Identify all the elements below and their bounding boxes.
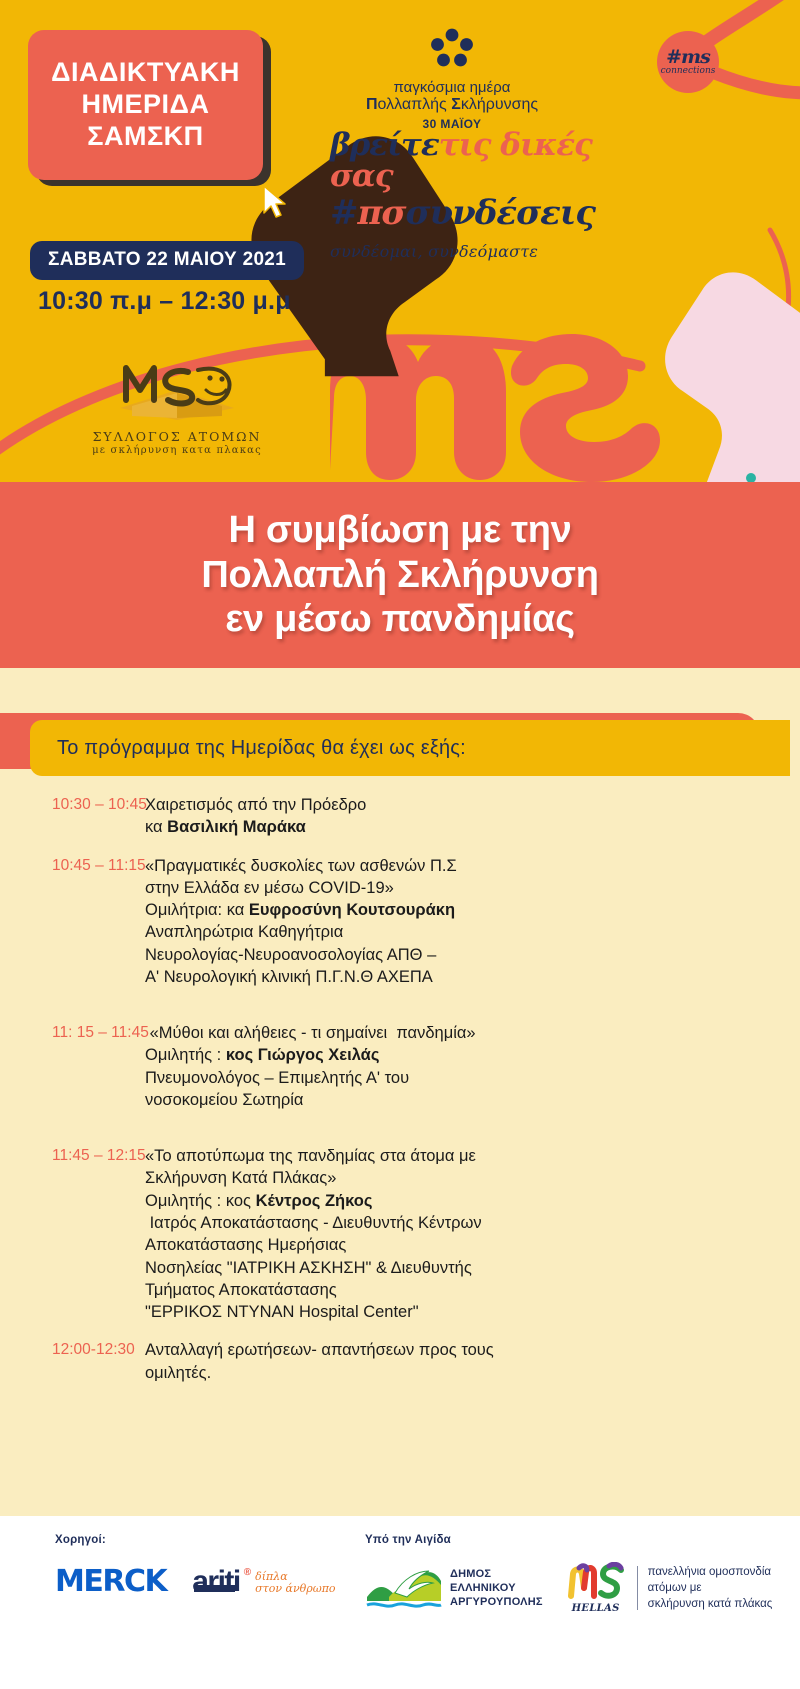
aegis-logo-row: ΔΗΜΟΣ ΕΛΛΗΝΙΚΟΥ ΑΡΓΥΡΟΥΠΟΛΗΣ HELLAS [365, 1562, 772, 1614]
dimos-emblem-icon [365, 1563, 443, 1613]
schedule-row: 11:45 – 12:15«Το αποτύπωμα της πανδημίας… [0, 1145, 800, 1323]
schedule-line-text: Α' Νευρολογική κλινική Π.Γ.Ν.Θ ΑΧΕΠΑ [145, 968, 433, 986]
schedule-row-line: στην Ελλάδα εν μέσω COVID-19» [145, 877, 457, 899]
slogan-accent-2: πσ [358, 193, 406, 233]
schedule-row-line: Αναπληρώτρια Καθηγήτρια [145, 921, 457, 943]
schedule-line-text: Αποκατάστασης Ημερήσιας [145, 1236, 346, 1254]
schedule-row-time: 10:45 – 11:15 [0, 855, 145, 989]
schedule-row-body: «Το αποτύπωμα της πανδημίας στα άτομα με… [145, 1145, 482, 1323]
ms-hellas-letters-icon [565, 1562, 627, 1600]
schedule-gap [0, 1115, 800, 1145]
world-day-bold-pi: Π [366, 96, 378, 113]
schedule-row-line: Ομιλητής : κος Γιώργος Χειλάς [145, 1044, 476, 1066]
program-heading-text: Το πρόγραμμα της Ημερίδας θα έχει ως εξή… [57, 737, 466, 760]
schedule-gap [0, 1388, 800, 1400]
world-ms-day-logo: παγκόσμια ημέρα Πολλαπλής Σκλήρυνσης 30 … [352, 28, 552, 131]
schedule-line-text: Πνευμονολόγος – Επιμελητής Α' του [145, 1069, 409, 1087]
hero-section: ΔΙΑΔΙΚΤΥΑΚΗ ΗΜΕΡΙΔΑ ΣΑΜΣΚΠ ΣΑΒΒΑΤΟ 22 ΜΑ… [0, 0, 800, 482]
slogan-block: βρείτετις δικές σας #πσσυνδέσεις συνδέομ… [330, 130, 620, 261]
association-mark-icon [102, 360, 252, 422]
schedule-line-text: Ανταλλαγή ερωτήσεων- απαντήσεων προς του… [145, 1341, 494, 1359]
title-card-text: ΔΙΑΔΙΚΤΥΑΚΗ ΗΜΕΡΙΔΑ ΣΑΜΣΚΠ [51, 57, 240, 153]
mouse-cursor-icon [262, 185, 288, 219]
schedule-line-text: Ομιλητής : κος [145, 1192, 256, 1210]
ms-hellas-wordmark: HELLAS [565, 1603, 627, 1614]
slogan-hash: # [330, 193, 358, 233]
world-day-rest2: κλήρυνσης [461, 96, 538, 113]
ariti-registered-mark: ® [244, 1567, 251, 1578]
schedule-line-text: Τμήματος Αποκατάστασης [145, 1281, 337, 1299]
aegis-block: Υπό την Αιγίδα ΔΗΜΟΣ ΕΛΛΗΝΙΚΟΥ ΑΡΓΥΡΟΥΠΟ… [365, 1534, 772, 1614]
ms-hellas-mark: HELLAS [565, 1562, 627, 1614]
world-day-line2: Πολλαπλής Σκλήρυνσης [352, 96, 552, 115]
schedule-line-emphasis: Ευφροσύνη Κουτσουράκη [249, 901, 455, 919]
world-day-rest1: ολλαπλής [378, 96, 452, 113]
world-day-bold-sigma: Σ [451, 96, 461, 113]
schedule-row-line: Πνευμονολόγος – Επιμελητής Α' του [145, 1067, 476, 1089]
schedule-line-emphasis: Βασιλική Μαράκα [167, 818, 306, 836]
schedule-gap [0, 992, 800, 1022]
schedule-line-text: Σκλήρυνση Κατά Πλάκας» [145, 1169, 336, 1187]
schedule-row: 10:30 – 10:45Χαιρετισμός από την Πρόεδρο… [0, 794, 800, 839]
schedule-row-line: Αποκατάστασης Ημερήσιας [145, 1234, 482, 1256]
schedule-row-time: 11:45 – 12:15 [0, 1145, 145, 1323]
schedule-gap [0, 843, 800, 855]
schedule-row-line: νοσοκομείου Σωτηρία [145, 1089, 476, 1111]
program-section: Το πρόγραμμα της Ημερίδας θα έχει ως εξή… [0, 668, 800, 1516]
ms-hellas-logo: HELLAS πανελλήνια ομοσπονδία ατόμων με σ… [565, 1562, 773, 1614]
schedule-line-text: ομιλητές. [145, 1364, 211, 1382]
merck-logo: MERCK [55, 1564, 166, 1599]
schedule-line-text: Ιατρός Αποκατάστασης - Διευθυντής Κέντρω… [145, 1214, 482, 1232]
schedule-row-line: «Το αποτύπωμα της πανδημίας στα άτομα με [145, 1145, 482, 1167]
sponsors-block: Χορηγοί: MERCK ariti ® δίπλα στον άνθρωπ… [55, 1534, 336, 1599]
title-band: Η συμβίωση με την Πολλαπλή Σκλήρυνση εν … [0, 482, 800, 668]
schedule-line-emphasis: Κέντρος Ζήκος [256, 1192, 373, 1210]
aegis-label: Υπό την Αιγίδα [365, 1534, 772, 1546]
schedule-line-text: «Το αποτύπωμα της πανδημίας στα άτομα με [145, 1147, 476, 1165]
ariti-tagline: δίπλα στον άνθρωπο [255, 1571, 335, 1596]
world-day-line1: παγκόσμια ημέρα [352, 79, 552, 96]
schedule-row-line: Ανταλλαγή ερωτήσεων- απαντήσεων προς του… [145, 1339, 494, 1361]
schedule-line-text: Νευρολογίας-Νευροανοσολογίας ΑΠΘ – [145, 946, 436, 964]
ms-connections-badge: #ms connections [657, 31, 719, 93]
schedule-row-line: «Πραγματικές δυσκολίες των ασθενών Π.Σ [145, 855, 457, 877]
sponsors-label: Χορηγοί: [55, 1534, 336, 1546]
schedule-row: 11: 15 – 11:45 «Μύθοι και αλήθειες - τι … [0, 1022, 800, 1111]
schedule-row-line: Ομιλητής : κος Κέντρος Ζήκος [145, 1190, 482, 1212]
slogan-line-3: συνδέομαι, συνδεόμαστε [330, 242, 620, 261]
association-line1: ΣΥΛΛΟΓΟΣ ΑΤΟΜΩΝ [82, 429, 272, 444]
schedule-row-body: Ανταλλαγή ερωτήσεων- απαντήσεων προς του… [145, 1339, 494, 1384]
schedule-line-text: Αναπληρώτρια Καθηγήτρια [145, 923, 343, 941]
schedule-row-line: Νοσηλείας "ΙΑΤΡΙΚΗ ΑΣΚΗΣΗ" & Διευθυντής [145, 1257, 482, 1279]
sponsor-logo-row: MERCK ariti ® δίπλα στον άνθρωπο [55, 1564, 336, 1599]
footer-section: Χορηγοί: MERCK ariti ® δίπλα στον άνθρωπ… [0, 1516, 800, 1689]
dimos-text: ΔΗΜΟΣ ΕΛΛΗΝΙΚΟΥ ΑΡΓΥΡΟΥΠΟΛΗΣ [450, 1567, 543, 1609]
schedule-line-text: στην Ελλάδα εν μέσω COVID-19» [145, 879, 394, 897]
ariti-underbar [194, 1585, 235, 1592]
badge-top-text: #ms [666, 48, 710, 66]
schedule-row-line: κα Βασιλική Μαράκα [145, 816, 366, 838]
schedule-row-line: Χαιρετισμός από την Πρόεδρο [145, 794, 366, 816]
schedule-row-time: 11: 15 – 11:45 [0, 1022, 145, 1111]
schedule-row-line: Α' Νευρολογική κλινική Π.Γ.Ν.Θ ΑΧΕΠΑ [145, 966, 457, 988]
schedule-row-line: Νευρολογίας-Νευροανοσολογίας ΑΠΘ – [145, 944, 457, 966]
schedule-row-line: "ΕΡΡΙΚΟΣ ΝΤΥΝΑΝ Hospital Center" [145, 1301, 482, 1323]
ms-hellas-description: πανελλήνια ομοσπονδία ατόμων με σκλήρυνσ… [648, 1564, 773, 1613]
association-line2: με σκλήρυνση κατα πλακας [82, 445, 272, 456]
date-pill-text: ΣΑΒΒΑΤΟ 22 ΜΑΙΟΥ 2021 [48, 249, 286, 270]
slogan-dark-2: συνδέσεις [405, 193, 595, 233]
schedule-line-text: νοσοκομείου Σωτηρία [145, 1091, 303, 1109]
dimos-logo: ΔΗΜΟΣ ΕΛΛΗΝΙΚΟΥ ΑΡΓΥΡΟΥΠΟΛΗΣ [365, 1563, 543, 1613]
schedule-row-time: 12:00-12:30 [0, 1339, 145, 1384]
ariti-logo: ariti ® δίπλα στον άνθρωπο [192, 1565, 335, 1599]
ariti-wordmark: ariti [192, 1565, 240, 1599]
schedule-row-line: «Μύθοι και αλήθειες - τι σημαίνει πανδημ… [145, 1022, 476, 1044]
schedule-list: 10:30 – 10:45Χαιρετισμός από την Πρόεδρο… [0, 794, 800, 1400]
schedule-line-text: Ομιλητής : [145, 1046, 226, 1064]
ariti-text: ariti [192, 1565, 240, 1598]
schedule-row-line: Ιατρός Αποκατάστασης - Διευθυντής Κέντρω… [145, 1212, 482, 1234]
schedule-line-emphasis: κος Γιώργος Χειλάς [226, 1046, 380, 1064]
slogan-line-1: βρείτετις δικές σας [330, 130, 620, 192]
association-logo: ΣΥΛΛΟΓΟΣ ΑΤΟΜΩΝ με σκλήρυνση κατα πλακας [82, 360, 272, 456]
schedule-line-text: "ΕΡΡΙΚΟΣ ΝΤΥΝΑΝ Hospital Center" [145, 1303, 419, 1321]
schedule-row-body: «Μύθοι και αλήθειες - τι σημαίνει πανδημ… [145, 1022, 476, 1111]
schedule-line-text: Ομιλήτρια: κα [145, 901, 249, 919]
schedule-line-text: κα [145, 818, 167, 836]
schedule-row: 10:45 – 11:15«Πραγματικές δυσκολίες των … [0, 855, 800, 989]
schedule-gap [0, 1327, 800, 1339]
schedule-line-text: «Πραγματικές δυσκολίες των ασθενών Π.Σ [145, 857, 457, 875]
slogan-line-2: #πσσυνδέσεις [330, 196, 620, 230]
poster-main-title: Η συμβίωση με την Πολλαπλή Σκλήρυνση εν … [201, 508, 598, 641]
schedule-row-body: «Πραγματικές δυσκολίες των ασθενών Π.Σστ… [145, 855, 457, 989]
badge-bottom-text: connections [661, 67, 716, 76]
time-text: 10:30 π.μ – 12:30 μ.μ [38, 287, 291, 316]
title-card: ΔΙΑΔΙΚΤΥΑΚΗ ΗΜΕΡΙΔΑ ΣΑΜΣΚΠ [28, 30, 263, 180]
schedule-row-body: Χαιρετισμός από την Πρόεδροκα Βασιλική Μ… [145, 794, 366, 839]
program-heading-bar: Το πρόγραμμα της Ημερίδας θα έχει ως εξή… [30, 720, 790, 776]
schedule-row-line: Σκλήρυνση Κατά Πλάκας» [145, 1167, 482, 1189]
date-pill: ΣΑΒΒΑΤΟ 22 ΜΑΙΟΥ 2021 [30, 241, 304, 280]
ms-flower-icon [430, 28, 474, 68]
schedule-row-line: Τμήματος Αποκατάστασης [145, 1279, 482, 1301]
schedule-row-line: ομιλητές. [145, 1362, 494, 1384]
schedule-line-text: «Μύθοι και αλήθειες - τι σημαίνει πανδημ… [145, 1024, 476, 1042]
ms-hellas-divider [637, 1566, 638, 1610]
schedule-line-text: Χαιρετισμός από την Πρόεδρο [145, 796, 366, 814]
schedule-row-time: 10:30 – 10:45 [0, 794, 145, 839]
schedule-row: 12:00-12:30Ανταλλαγή ερωτήσεων- απαντήσε… [0, 1339, 800, 1384]
poster: ΔΙΑΔΙΚΤΥΑΚΗ ΗΜΕΡΙΔΑ ΣΑΜΣΚΠ ΣΑΒΒΑΤΟ 22 ΜΑ… [0, 0, 800, 1689]
schedule-line-text: Νοσηλείας "ΙΑΤΡΙΚΗ ΑΣΚΗΣΗ" & Διευθυντής [145, 1259, 472, 1277]
schedule-row-line: Ομιλήτρια: κα Ευφροσύνη Κουτσουράκη [145, 899, 457, 921]
